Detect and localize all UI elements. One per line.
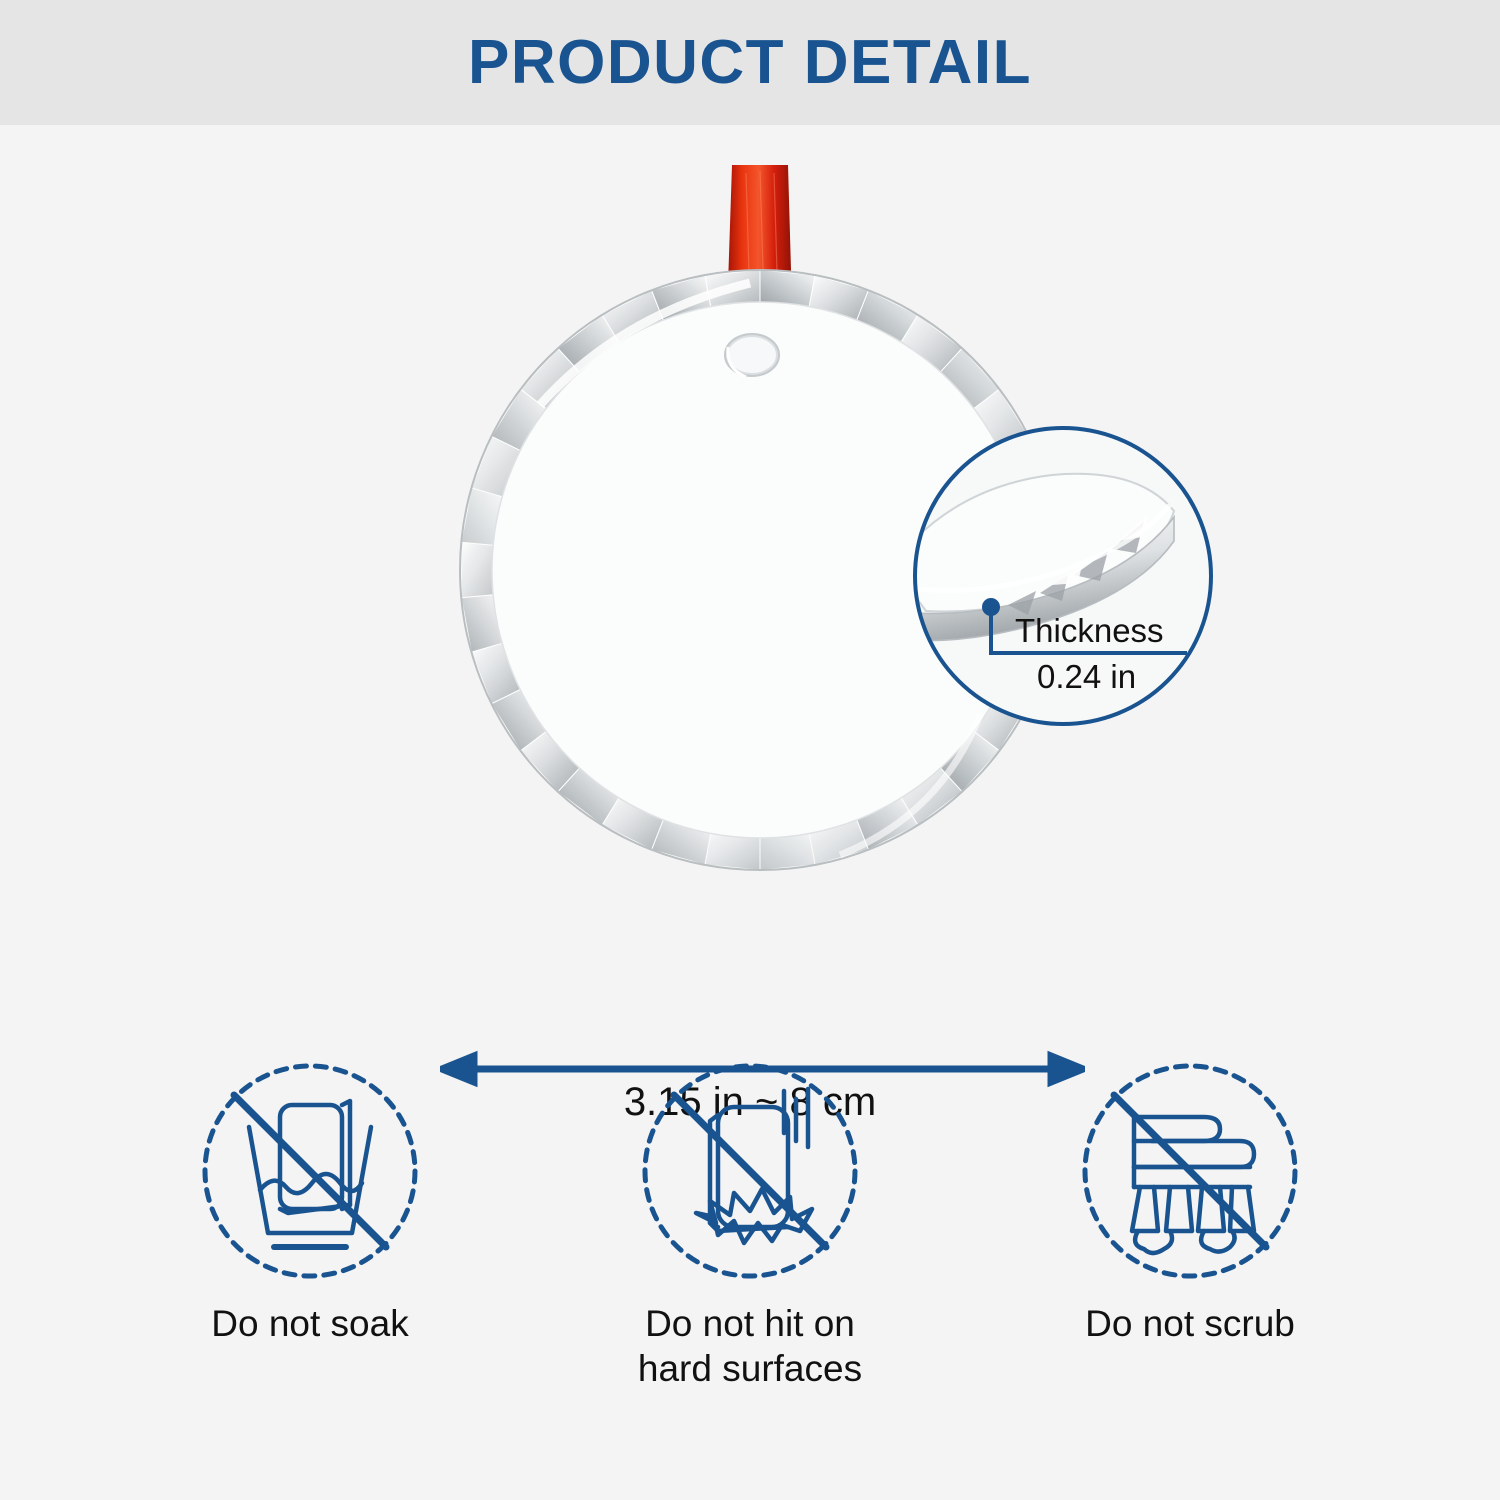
thickness-value: 0.24 in [1037, 658, 1136, 696]
care-label: Do not hit on hard surfaces [638, 1301, 862, 1391]
care-label: Do not soak [211, 1301, 408, 1346]
care-instructions-row: Do not soak [0, 1055, 1500, 1455]
no-soak-icon [194, 1055, 426, 1287]
care-label: Do not scrub [1085, 1301, 1295, 1346]
page-title: PRODUCT DETAIL [0, 0, 1500, 125]
no-hit-hard-surface-icon [634, 1055, 866, 1287]
care-item-do-not-soak: Do not soak [90, 1055, 530, 1346]
product-stage: Thickness 0.24 in 3.15 in ~ 8 cm [0, 125, 1500, 1030]
care-item-do-not-hit: Do not hit on hard surfaces [530, 1055, 970, 1391]
thickness-leader-dot [982, 598, 1000, 616]
product-detail-page: PRODUCT DETAIL [0, 0, 1500, 1500]
ornament-hole [726, 335, 778, 377]
care-item-do-not-scrub: Do not scrub [970, 1055, 1410, 1346]
thickness-label: Thickness [1015, 612, 1164, 650]
no-scrub-brush-icon [1074, 1055, 1306, 1287]
